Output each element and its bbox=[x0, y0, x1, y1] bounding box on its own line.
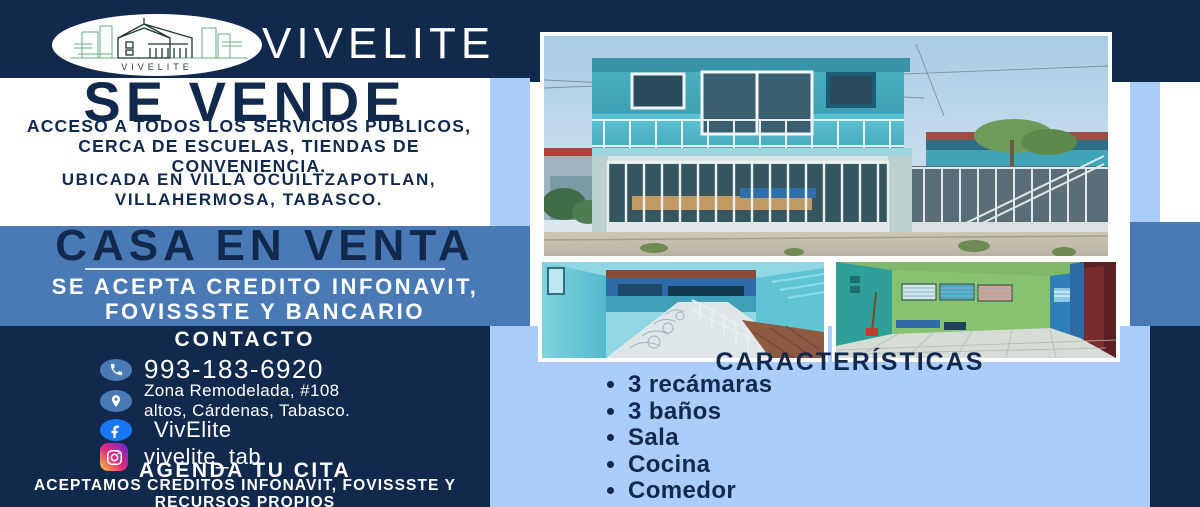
feature-item: Sala bbox=[628, 425, 773, 452]
feature-item: 3 recámaras bbox=[628, 372, 773, 399]
brand-wordmark: VIVELITE bbox=[262, 14, 522, 74]
location-pin-icon bbox=[100, 390, 132, 412]
facebook-handle: VivElite bbox=[154, 417, 232, 443]
feature-item: Comedor bbox=[628, 478, 773, 505]
casa-en-venta-title: CASA EN VENTA bbox=[0, 222, 530, 270]
logo-ellipse: VIVELITE bbox=[52, 14, 262, 76]
acceso-text: ACCESO A TODOS LOS SERVICIOS PUBLICOS, C… bbox=[14, 116, 484, 176]
contacto-heading: CONTACTO bbox=[0, 326, 490, 354]
banner-divider bbox=[85, 268, 445, 270]
address-text: Zona Remodelada, #108 altos, Cárdenas, T… bbox=[144, 381, 350, 421]
terrace-walkway-photo bbox=[538, 258, 828, 362]
credito-text: SE ACEPTA CREDITO INFONAVIT, FOVISSSTE Y… bbox=[10, 274, 520, 324]
contact-row-address: Zona Remodelada, #108 altos, Cárdenas, T… bbox=[100, 381, 350, 421]
ubicacion-text: UBICADA EN VILLA OCUILTZAPOTLAN, VILLAHE… bbox=[14, 170, 484, 209]
right-panel: CARACTERÍSTICAS 3 recámaras3 bañosSalaCo… bbox=[530, 0, 1200, 507]
facebook-icon bbox=[100, 419, 132, 441]
feature-item: 3 baños bbox=[628, 399, 773, 426]
features-list: 3 recámaras3 bañosSalaCocinaComedorPatio… bbox=[600, 372, 773, 507]
left-panel: VIVELITE VIVELITE SE VENDE ACCESO A TODO… bbox=[0, 0, 530, 507]
vivelite-logo: VIVELITE bbox=[52, 14, 262, 76]
headline-accent-strip bbox=[490, 78, 530, 226]
contact-accent-strip bbox=[490, 326, 530, 507]
contact-row-facebook[interactable]: VivElite bbox=[100, 417, 232, 443]
interior-room-photo bbox=[832, 258, 1120, 362]
real-estate-flyer: VIVELITE VIVELITE SE VENDE ACCESO A TODO… bbox=[0, 0, 1200, 507]
logo-building-illustration: VIVELITE bbox=[52, 14, 262, 76]
house-exterior-photo bbox=[540, 32, 1112, 260]
phone-icon bbox=[100, 359, 132, 381]
feature-item: Cocina bbox=[628, 452, 773, 479]
right-accent-strip-upper bbox=[1130, 82, 1160, 222]
aceptamos-text: ACEPTAMOS CREDITOS INFONAVIT, FOVISSSTE … bbox=[0, 477, 490, 507]
